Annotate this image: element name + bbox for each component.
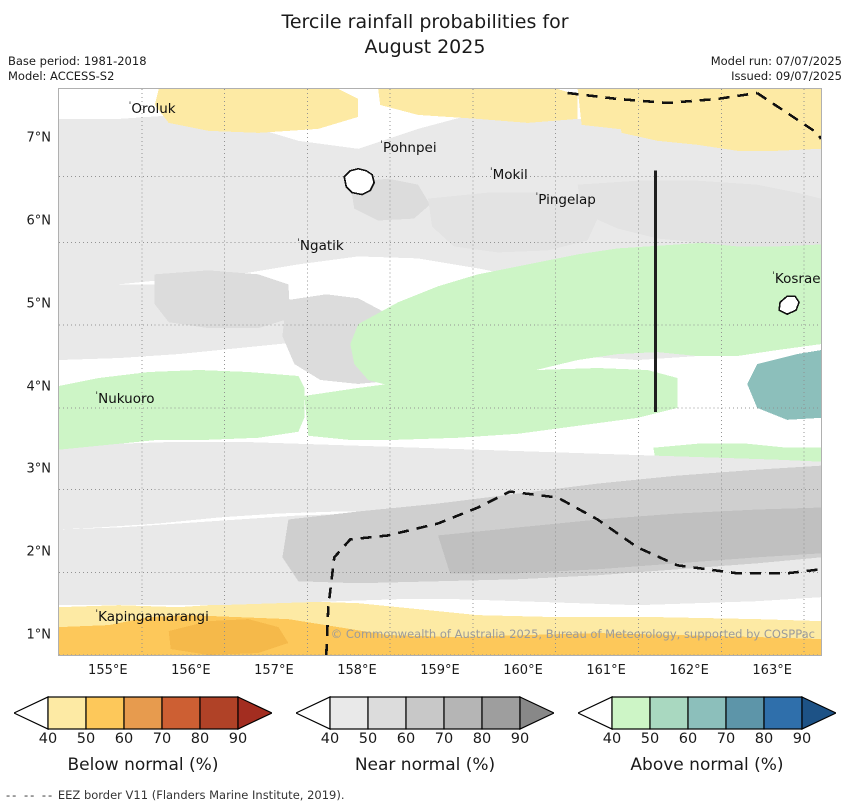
colorbar-below-normal-tick-60: 60 xyxy=(115,731,133,747)
map-container: © Commonwealth of Australia 2025, Bureau… xyxy=(58,88,822,656)
colorbar-above-normal-tick-40: 40 xyxy=(603,731,621,747)
colorbar-above-normal-tick-80: 80 xyxy=(755,731,773,747)
title-line-1: Tercile rainfall probabilities for xyxy=(0,10,850,35)
latitude-tick-2: 2°N xyxy=(27,545,52,560)
model-run-text: Model run: 07/07/2025 xyxy=(711,54,842,69)
eez-note-text: EEZ border V11 (Flanders Marine Institut… xyxy=(58,788,345,802)
colorbar-below-normal-bar[interactable] xyxy=(14,696,272,730)
colorbar-above-normal-tick-50: 50 xyxy=(641,731,659,747)
colorbar-below-normal-svg xyxy=(14,696,272,730)
map-plot-area: © Commonwealth of Australia 2025, Bureau… xyxy=(58,88,822,656)
colorbar-above-normal-tick-60: 60 xyxy=(679,731,697,747)
colorbar-below-normal: 405060708090 Below normal (%) xyxy=(14,696,272,784)
colorbar-above-normal-bar[interactable] xyxy=(578,696,836,730)
map-credit: © Commonwealth of Australia 2025, Bureau… xyxy=(331,627,815,641)
model-text: Model: ACCESS-S2 xyxy=(8,69,147,84)
longitude-tick-161: 161°E xyxy=(586,663,626,678)
latitude-tick-4: 4°N xyxy=(27,379,52,394)
longitude-tick-155: 155°E xyxy=(88,663,128,678)
colorbar-above-normal-svg xyxy=(578,696,836,730)
colorbar-above-normal-tick-70: 70 xyxy=(717,731,735,747)
colorbar-above-normal-label: Above normal (%) xyxy=(578,755,836,775)
place-label-pohnpei: ˈPohnpei xyxy=(380,140,436,156)
issued-text: Issued: 09/07/2025 xyxy=(711,69,842,84)
colorbar-below-normal-tick-90: 90 xyxy=(229,731,247,747)
colorbar-below-normal-tick-50: 50 xyxy=(77,731,95,747)
metadata-right: Model run: 07/07/2025 Issued: 09/07/2025 xyxy=(711,54,842,84)
latitude-tick-5: 5°N xyxy=(27,296,52,311)
longitude-tick-157: 157°E xyxy=(254,663,294,678)
colorbar-below-normal-tick-40: 40 xyxy=(39,731,57,747)
place-label-nukuoro: ˈNukuoro xyxy=(95,391,154,407)
colorbar-above-normal-ticks: 405060708090 xyxy=(578,731,836,751)
place-label-ngatik: ˈNgatik xyxy=(297,238,344,254)
colorbar-near-normal-tick-80: 80 xyxy=(473,731,491,747)
colorbar-near-normal-tick-40: 40 xyxy=(321,731,339,747)
colorbar-near-normal-tick-50: 50 xyxy=(359,731,377,747)
latitude-tick-1: 1°N xyxy=(27,628,52,643)
longitude-tick-159: 159°E xyxy=(420,663,460,678)
colorbar-below-normal-tick-80: 80 xyxy=(191,731,209,747)
colorbar-below-normal-ticks: 405060708090 xyxy=(14,731,272,751)
colorbar-near-normal-bar[interactable] xyxy=(296,696,554,730)
eez-dash-glyph: -- -- -- xyxy=(6,788,54,802)
colorbar-above-normal-tick-90: 90 xyxy=(793,731,811,747)
eez-border-note: -- -- -- EEZ border V11 (Flanders Marine… xyxy=(6,788,345,802)
base-period-text: Base period: 1981-2018 xyxy=(8,54,147,69)
colorbar-near-normal-tick-90: 90 xyxy=(511,731,529,747)
colorbar-below-normal-tick-70: 70 xyxy=(153,731,171,747)
longitude-tick-163: 163°E xyxy=(752,663,792,678)
map-tercile-shading xyxy=(59,89,821,655)
latitude-tick-6: 6°N xyxy=(27,213,52,228)
colorbar-near-normal-tick-70: 70 xyxy=(435,731,453,747)
longitude-tick-160: 160°E xyxy=(503,663,543,678)
longitude-tick-162: 162°E xyxy=(669,663,709,678)
latitude-tick-3: 3°N xyxy=(27,462,52,477)
longitude-tick-156: 156°E xyxy=(171,663,211,678)
latitude-tick-7: 7°N xyxy=(27,130,52,145)
colorbar-below-normal-label: Below normal (%) xyxy=(14,755,272,775)
colorbar-near-normal-tick-60: 60 xyxy=(397,731,415,747)
colorbar-near-normal-svg xyxy=(296,696,554,730)
place-label-pingelap: ˈPingelap xyxy=(536,192,596,208)
colorbar-near-normal-label: Near normal (%) xyxy=(296,755,554,775)
page-title: Tercile rainfall probabilities for Augus… xyxy=(0,10,850,60)
place-label-kosrae: ˈKosrae xyxy=(772,271,820,287)
place-label-oroluk: ˈOroluk xyxy=(129,101,176,117)
colorbar-near-normal-ticks: 405060708090 xyxy=(296,731,554,751)
place-label-mokil: ˈMokil xyxy=(490,167,528,183)
longitude-tick-158: 158°E xyxy=(337,663,377,678)
colorbar-near-normal: 405060708090 Near normal (%) xyxy=(296,696,554,784)
place-label-kapingamarangi: ˈKapingamarangi xyxy=(95,609,208,625)
colorbar-above-normal: 405060708090 Above normal (%) xyxy=(578,696,836,784)
metadata-left: Base period: 1981-2018 Model: ACCESS-S2 xyxy=(8,54,147,84)
